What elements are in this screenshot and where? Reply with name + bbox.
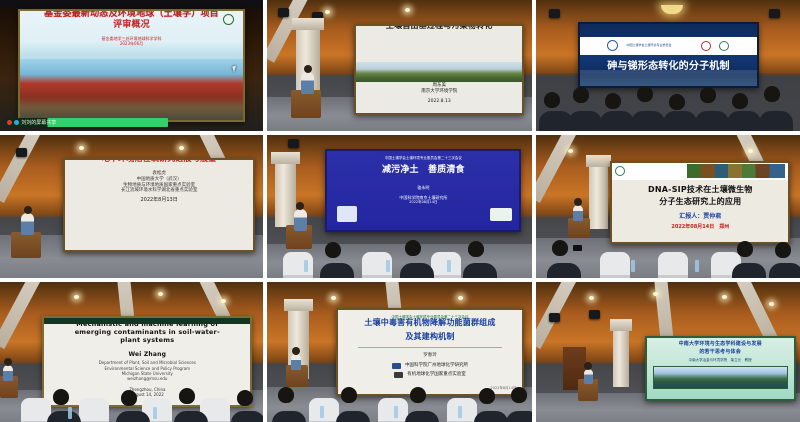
audience-6: [536, 235, 800, 278]
slide-8-affil1: 中国科学院广州地球化学研究所: [405, 363, 468, 369]
slide-5-title: 减污净土 善质清食: [382, 165, 465, 176]
water-bottle-icon: [447, 260, 451, 272]
audience-head-icon: [278, 387, 294, 403]
speaker-box-icon: [278, 8, 289, 17]
presenter-head-icon: [292, 347, 300, 355]
slide-6-title-line2: 分子生态研究上的应用: [659, 197, 741, 207]
slide-9-title-line1: 中南大学环境与生态学科建设与发展: [679, 341, 762, 347]
water-bottle-icon: [153, 407, 157, 419]
speaker-box-icon: [589, 310, 600, 319]
slide-6-photo-strip: [687, 164, 786, 178]
water-bottle-icon: [394, 406, 398, 418]
slide-screen-1: 基金委最新动态及环境地球（土壤学）项目 评审概况 基金委地学三处环境地球科学学科…: [18, 9, 244, 122]
presenter-9: [584, 369, 593, 384]
pillar-capital: [271, 152, 300, 164]
speaker-box-icon: [549, 313, 560, 322]
audience-body: [400, 263, 434, 278]
audience-head-icon: [573, 87, 589, 103]
audience-head-icon: [237, 390, 253, 406]
slide-6-presenter: 汇报人：贾仲君: [679, 213, 721, 221]
audience-body: [405, 411, 439, 422]
slide-5-date: 2022年08月14日: [409, 200, 437, 205]
photo-cell-8[interactable]: 中国土壤学会土壤环境专业委员会第二十三次会议 土壤中毒害有机物降解功能菌群组成 …: [267, 282, 532, 422]
record-icon: [7, 120, 12, 125]
ceiling-light-icon: [722, 295, 727, 299]
audience-body: [727, 111, 761, 131]
pillar-capital: [610, 319, 632, 331]
audience-head-icon: [605, 93, 621, 109]
slide-screen-4: 中国土壤学会土壤环境专业委员会第二十三次会议 地下环境活性氧研究进展与展望 袁松…: [63, 158, 255, 252]
institute-logo-icon: [392, 363, 401, 369]
audience-head-icon: [511, 387, 527, 403]
slide-8-divider: [358, 347, 502, 348]
pillar-capital: [284, 299, 313, 311]
audience-body: [272, 411, 306, 422]
audience-body: [463, 263, 497, 278]
presenter-head-icon: [4, 358, 12, 366]
audience-head-icon: [53, 389, 69, 405]
ceiling-light-icon: [653, 292, 658, 296]
water-bottle-icon: [304, 260, 308, 272]
hall-pillar: [589, 155, 608, 229]
audience-body: [174, 411, 208, 422]
photo-cell-3[interactable]: 中国土壤学会土壤环境专业委员会 砷与锑形态转化的分子机制: [536, 0, 800, 131]
ceiling-light-icon: [405, 8, 410, 12]
pillar-capital: [586, 155, 611, 167]
slide-4-title: 地下环境活性氧研究进展与展望: [102, 158, 217, 164]
speaker-box-icon: [16, 148, 27, 157]
speaker-box-icon: [549, 9, 560, 18]
audience-body: [506, 411, 533, 422]
slide-9-title-line2: 的若干思考与体会: [699, 349, 741, 355]
photo-cell-2[interactable]: 土壤自由基过程与污染物转化 周东美 南京大学环境学院 2022.8.13: [267, 0, 532, 131]
slide-screen-8: 中国土壤学会土壤环境专业委员会第二十三次会议 土壤中毒害有机物降解功能菌群组成 …: [336, 308, 524, 396]
podium-2: [291, 90, 321, 118]
audience-head-icon: [764, 86, 780, 102]
audience-head-icon: [341, 387, 357, 403]
audience-body: [631, 111, 665, 131]
slide-4-date: 2022年8月13日: [140, 197, 177, 204]
slide-8-affil2: 有机地球化学国家重点实验室: [407, 372, 466, 378]
camera-phone-icon: [573, 245, 582, 251]
audience-head-icon: [732, 93, 748, 109]
audience-body: [547, 263, 581, 278]
audience-body: [116, 411, 150, 422]
slide-6-date: 2022年08月14日 郑州: [671, 224, 729, 231]
audience-head-icon: [775, 242, 791, 258]
chair: [447, 398, 477, 422]
presenter-head-icon: [24, 206, 32, 214]
photo-cell-7[interactable]: Mechanistic and machine learning of emer…: [0, 282, 263, 422]
slide-screen-5: 中国土壤学会土壤环境专业委员会第二十三次会议 减污净土 善质清食 骆永明 中国科…: [325, 149, 521, 232]
slide-9-affiliation: 中南大学冶金与环境学院 柴立元 教授: [689, 358, 752, 363]
audience-head-icon: [669, 94, 685, 110]
audience-body: [695, 111, 729, 131]
audience-head-icon: [544, 92, 560, 108]
screenshare-bar[interactable]: 刘刘的屏幕共享: [5, 118, 168, 127]
university-logo-icon-1: [223, 14, 234, 25]
audience-head-icon: [700, 87, 716, 103]
ceiling-light-icon: [331, 296, 336, 300]
slide-1-building-photo: [20, 59, 242, 120]
slide-screen-9: 中南大学环境与生态学科建设与发展 的若干思考与体会 中南大学冶金与环境学院 柴立…: [645, 336, 796, 401]
audience-7: [0, 387, 263, 422]
slide-5-presenter: 骆永明: [417, 185, 429, 190]
audience-body: [474, 411, 508, 422]
audience-body: [759, 111, 793, 131]
slide-5-header: 中国土壤学会土壤环境专业委员会第二十三次会议: [385, 156, 462, 161]
institute-logo-icon-green: [719, 41, 729, 51]
slide-2-date: 2022.8.13: [428, 99, 451, 105]
hall-pillar: [613, 319, 629, 387]
slide-8-header: 中国土壤学会土壤环境专业委员会第二十三次会议: [391, 315, 468, 320]
chair: [283, 252, 313, 278]
slide-7-email: weizhang@msu.edu: [127, 376, 167, 381]
audience-head-icon: [552, 240, 568, 256]
chair: [600, 252, 630, 278]
presenter-6: [573, 205, 583, 221]
water-bottle-icon: [695, 260, 699, 272]
water-bottle-icon: [631, 260, 635, 272]
audience-head-icon: [479, 388, 495, 404]
lab-logo-icon: [394, 372, 403, 378]
ceiling-light-icon: [221, 299, 226, 303]
audience-head-icon: [410, 387, 426, 403]
chair: [658, 252, 688, 278]
slide-2-landscape-photo: [356, 62, 522, 81]
speaker-box-icon: [769, 9, 780, 18]
ceiling-light-icon: [74, 295, 79, 299]
water-bottle-icon: [386, 260, 390, 272]
institute-logo-icon: [615, 166, 625, 176]
presenter-head-icon: [574, 198, 582, 206]
photo-cell-4[interactable]: 中国土壤学会土壤环境专业委员会第二十三次会议 地下环境活性氧研究进展与展望 袁松…: [0, 135, 263, 278]
ceiling-light-icon: [158, 292, 163, 296]
slide-3-logo-header: 中国土壤学会土壤环境专业委员会: [580, 37, 756, 54]
audience-body: [568, 111, 602, 131]
share-icon: [14, 120, 19, 125]
slide-9-campus-photo: [653, 366, 788, 389]
photo-grid: 基金委最新动态及环境地球（土壤学）项目 评审概况 基金委地学三处环境地球科学学科…: [0, 0, 800, 422]
audience-body: [600, 111, 634, 131]
presenter-head-icon: [584, 362, 592, 370]
hall-pillar: [275, 152, 296, 226]
slide-1-sub2: 2023年06月: [120, 41, 143, 46]
presenter-7: [3, 365, 13, 381]
audience-8: [267, 384, 532, 422]
podium-4: [11, 232, 41, 258]
screenshare-label: 刘刘的屏幕共享: [21, 119, 56, 126]
presenter-5: [294, 209, 307, 231]
audience-body: [320, 263, 354, 278]
audience-body: [47, 411, 81, 422]
audience-head-icon: [405, 240, 421, 256]
photo-cell-9[interactable]: 中南大学环境与生态学科建设与发展 的若干思考与体会 中南大学冶金与环境学院 柴立…: [536, 282, 800, 422]
photo-cell-5[interactable]: 中国土壤学会土壤环境专业委员会第二十三次会议 减污净土 善质清食 骆永明 中国科…: [267, 135, 532, 278]
audience-body: [663, 111, 697, 131]
slide-8-presenter: 罗春玲: [423, 353, 437, 359]
chair: [309, 398, 339, 422]
slide-screen-2: 土壤自由基过程与污染物转化 周东美 南京大学环境学院 2022.8.13: [354, 24, 524, 116]
slide-screen-6: DNA-SIP技术在土壤微生物 分子生态研究上的应用 汇报人：贾仲君 2022年…: [610, 161, 790, 244]
slide-7-title-line3: plant systems: [120, 337, 174, 345]
audience-5: [267, 235, 532, 278]
presenter-2: [301, 72, 314, 94]
speaker-box-icon: [288, 139, 299, 148]
audience-head-icon: [325, 242, 341, 258]
audience-head-icon: [737, 241, 753, 257]
institute-logo-icon-right: [490, 208, 512, 221]
slide-1-title-line2: 评审概况: [113, 20, 150, 31]
society-logo-icon: [607, 40, 618, 51]
chair: [21, 398, 51, 422]
slide-4-affil3: 长江流域环境水科学湖北省重点实验室: [121, 188, 198, 194]
presenter-4: [21, 213, 34, 235]
university-logo-icon-red: [701, 41, 711, 51]
photo-cell-1[interactable]: 基金委最新动态及环境地球（土壤学）项目 评审概况 基金委地学三处环境地球科学学科…: [0, 0, 263, 131]
audience-head-icon: [637, 86, 653, 102]
slide-1-title-line1: 基金委最新动态及环境地球（土壤学）项目: [44, 9, 219, 20]
screenshare-top-chrome: [0, 0, 263, 8]
audience-3: [536, 73, 800, 131]
pillar-capital: [292, 18, 324, 30]
slide-6-banner: [612, 163, 788, 180]
audience-body: [769, 263, 800, 278]
slide-7-presenter: Wei Zhang: [128, 351, 166, 358]
audience-body: [732, 263, 766, 278]
institute-logo-icon-left: [337, 206, 357, 222]
water-bottle-icon: [68, 407, 72, 419]
audience-body: [231, 411, 263, 422]
slide-6-title-line1: DNA-SIP技术在土壤微生物: [648, 185, 752, 195]
slide-8-title-line2: 及其建构机制: [405, 332, 454, 342]
audience-body: [336, 411, 370, 422]
presenter-8: [291, 354, 301, 370]
slide-2-affiliation: 南京大学环境学院: [421, 89, 457, 95]
audience-head-icon: [179, 388, 195, 404]
audience-head-icon: [121, 390, 137, 406]
slide-7-msu-banner: [44, 318, 250, 324]
slide-2-title: 土壤自由基过程与污染物转化: [386, 24, 493, 31]
presenter-head-icon: [304, 65, 312, 73]
slide-3-header-text: 中国土壤学会土壤环境专业委员会: [626, 44, 671, 48]
audience-head-icon: [468, 241, 484, 257]
water-bottle-icon: [320, 406, 324, 418]
presenter-head-icon: [296, 202, 304, 210]
water-bottle-icon: [458, 406, 462, 418]
photo-cell-6[interactable]: DNA-SIP技术在土壤微生物 分子生态研究上的应用 汇报人：贾仲君 2022年…: [536, 135, 800, 278]
chair: [79, 398, 109, 422]
